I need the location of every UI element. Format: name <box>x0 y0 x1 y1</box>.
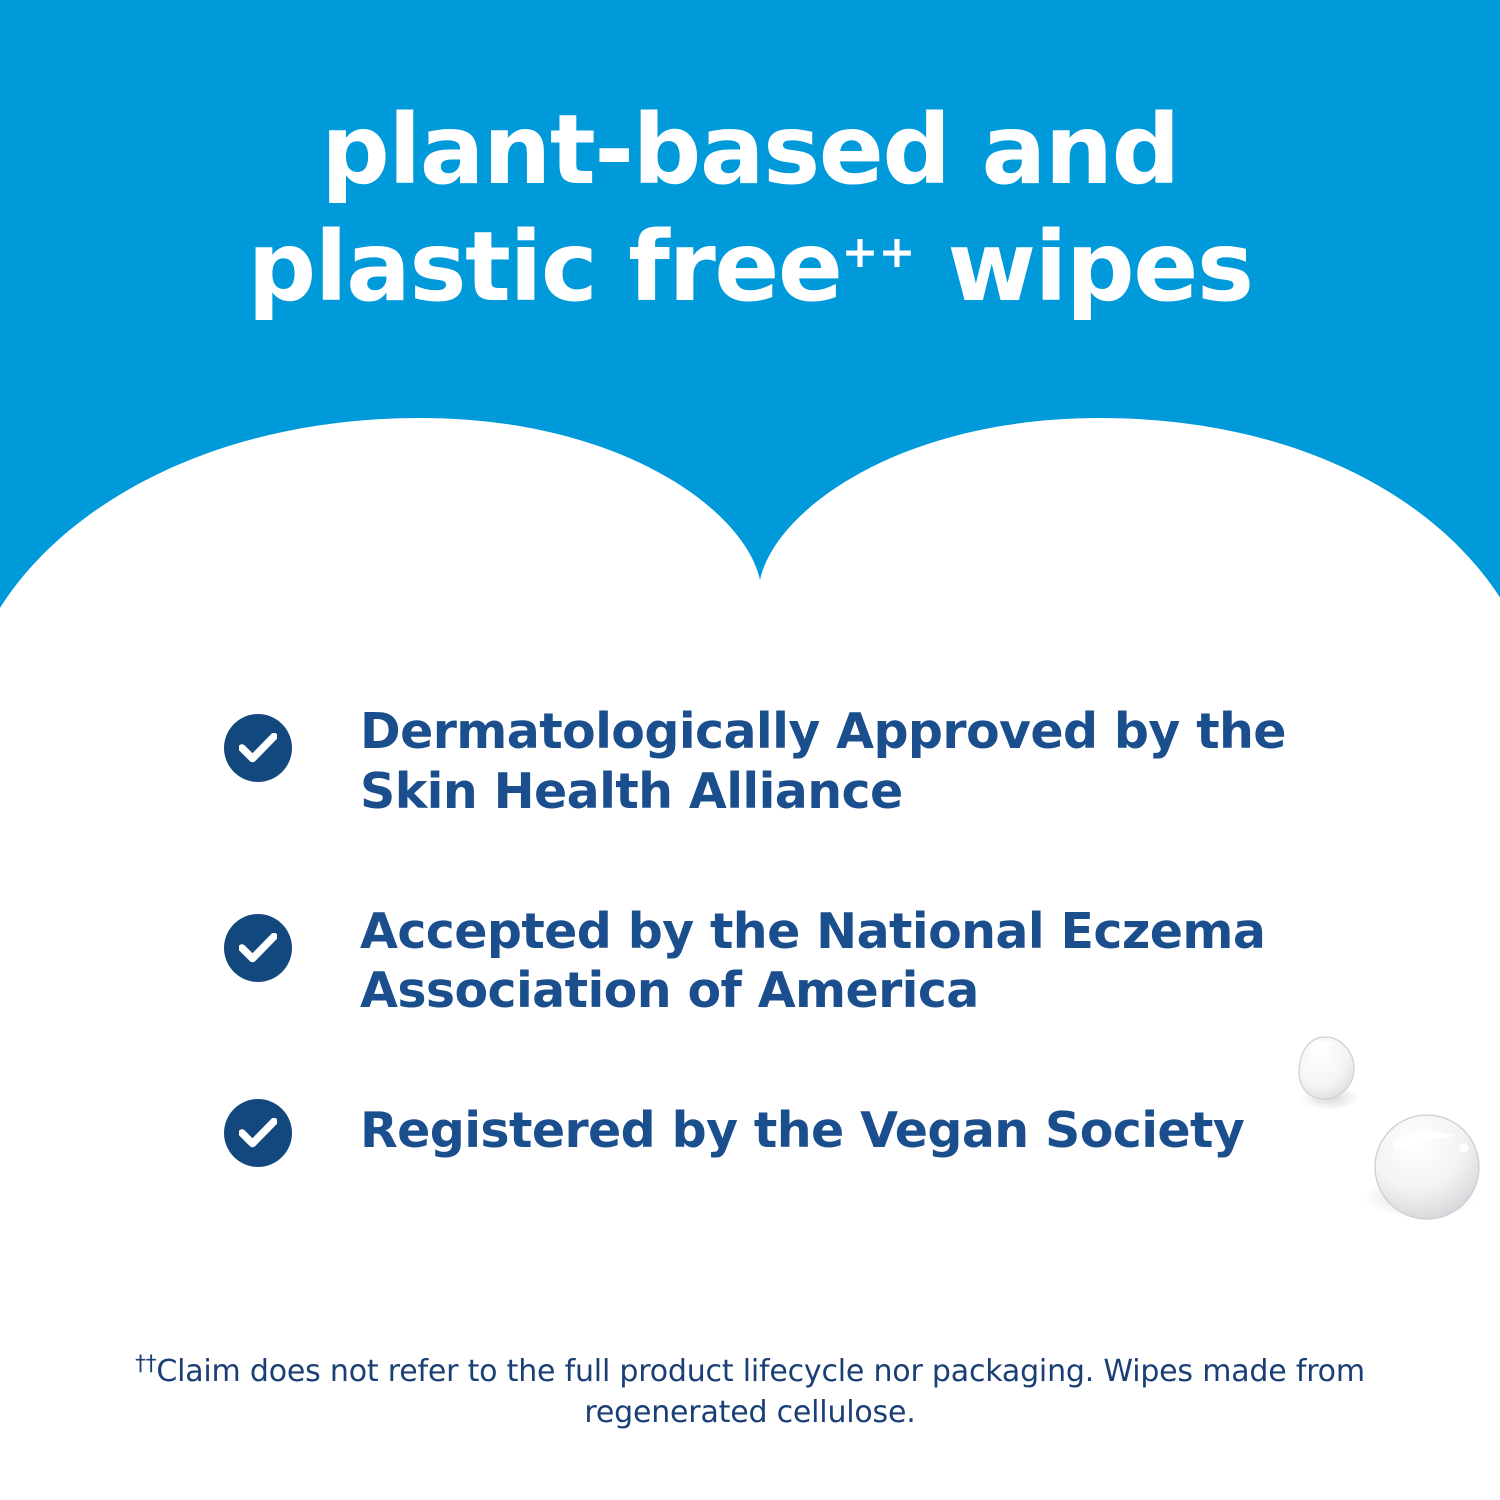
footnote-dagger-superscript: †† <box>135 1351 156 1376</box>
headline-superscript: ++ <box>842 227 916 278</box>
page-title: plant-based and plastic free++ wipes <box>0 92 1500 326</box>
check-circle-icon <box>224 1099 292 1167</box>
check-circle-icon <box>224 914 292 982</box>
headline-line-1: plant-based and <box>0 92 1500 209</box>
list-item: Dermatologically Approved by the Skin He… <box>224 700 1344 822</box>
headline-line-2: plastic free++ wipes <box>0 209 1500 326</box>
list-item: Accepted by the National Eczema Associat… <box>224 900 1344 1022</box>
claims-list: Dermatologically Approved by the Skin He… <box>224 700 1344 1167</box>
check-circle-icon <box>224 714 292 782</box>
footnote-disclaimer: ††Claim does not refer to the full produ… <box>130 1352 1370 1434</box>
list-item-label: Accepted by the National Eczema Associat… <box>360 900 1340 1022</box>
headline-line-2-suffix: wipes <box>916 211 1253 323</box>
list-item: Registered by the Vegan Society <box>224 1099 1344 1167</box>
product-feature-banner: plant-based and plastic free++ wipes Der… <box>0 0 1500 1500</box>
list-item-label: Dermatologically Approved by the Skin He… <box>360 700 1340 822</box>
headline-line-2-text: plastic free <box>248 211 842 323</box>
list-item-label: Registered by the Vegan Society <box>360 1099 1244 1161</box>
footnote-text: Claim does not refer to the full product… <box>156 1354 1365 1430</box>
